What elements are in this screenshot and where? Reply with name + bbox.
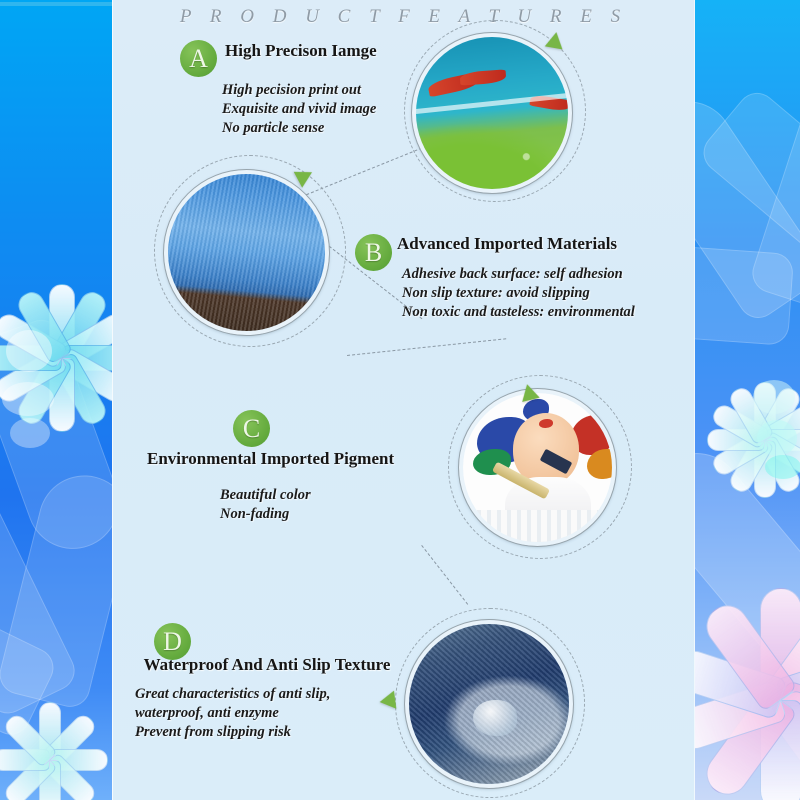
feature-body-line: waterproof, anti enzyme — [135, 704, 330, 723]
feature-body-line: Non slip texture: avoid slipping — [402, 284, 635, 303]
feature-heading-b: Advanced Imported Materials — [397, 234, 617, 254]
page-title: P R O D U C T F E A T U R E S — [112, 6, 695, 28]
feature-body-b: Adhesive back surface: self adhesion Non… — [402, 265, 635, 322]
feature-body-line: Prevent from slipping risk — [135, 723, 330, 742]
photo-waterproof-surface — [405, 620, 573, 788]
decorative-blob — [6, 330, 52, 372]
feature-body-line: Non-fading — [220, 505, 311, 524]
feature-body-d: Great characteristics of anti slip, wate… — [135, 685, 330, 742]
feature-body-line: Non toxic and tasteless: environmental — [402, 303, 635, 322]
feature-body-line: Great characteristics of anti slip, — [135, 685, 330, 704]
feature-badge-b: B — [355, 234, 392, 271]
decorative-blob — [765, 455, 800, 479]
photo-fish-water — [412, 33, 572, 193]
feature-body-a: High pecision print out Exquisite and vi… — [222, 81, 376, 138]
feature-body-line: High pecision print out — [222, 81, 376, 100]
decorative-petal-large — [695, 238, 794, 346]
feature-body-line: Adhesive back surface: self adhesion — [402, 265, 635, 284]
decorative-blob — [2, 382, 54, 416]
feature-body-line: No particle sense — [222, 119, 376, 138]
photo-blue-fabric — [164, 170, 329, 335]
connector-line-c-d — [421, 545, 468, 605]
feature-badge-a: A — [180, 40, 217, 77]
feature-body-line: Exquisite and vivid image — [222, 100, 376, 119]
decorative-band-right — [695, 0, 800, 800]
feature-heading-a: High Precison Iamge — [225, 41, 377, 61]
decorative-blob — [10, 418, 50, 448]
water-droplet — [473, 700, 517, 736]
content-panel: P R O D U C T F E A T U R E S A High Pre… — [112, 0, 695, 800]
decorative-band-left — [0, 0, 112, 800]
decorative-blob — [757, 420, 797, 456]
fish-shape — [460, 69, 507, 85]
photo-baby-paint — [459, 389, 616, 546]
product-features-poster: P R O D U C T F E A T U R E S A High Pre… — [0, 0, 800, 800]
photo-waterproof-surface-image — [407, 622, 571, 786]
photo-fish-water-image — [414, 35, 570, 191]
feature-body-line: Beautiful color — [220, 486, 311, 505]
arrow-marker-a — [545, 31, 566, 50]
feature-heading-d: Waterproof And Anti Slip Texture — [107, 655, 427, 675]
feature-heading-c: Environmental Imported Pigment — [147, 449, 394, 469]
paint-floor — [461, 510, 614, 544]
feature-badge-c: C — [233, 410, 270, 447]
paint-splash — [587, 449, 616, 479]
photo-blue-fabric-image — [166, 172, 327, 333]
connector-line-b-c2 — [347, 338, 506, 356]
feature-body-c: Beautiful color Non-fading — [220, 486, 311, 524]
decorative-blob — [753, 380, 795, 414]
photo-baby-paint-image — [461, 391, 614, 544]
